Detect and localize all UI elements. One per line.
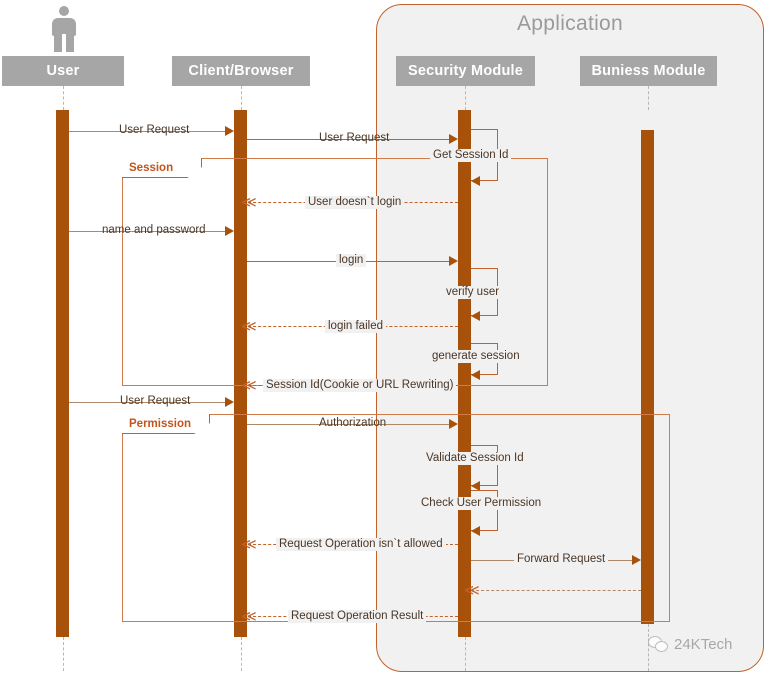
message-label-m6: login xyxy=(336,254,366,267)
message-label-m18: Request Operation Result xyxy=(288,610,426,623)
message-line-m17 xyxy=(471,590,641,591)
lifeline-stem-user xyxy=(63,86,64,110)
lifeline-head-user[interactable]: User xyxy=(2,56,124,86)
message-label-m16: Forward Request xyxy=(514,553,608,566)
message-arrowhead-m7 xyxy=(471,311,480,321)
message-arrowhead-m10: ≪ xyxy=(241,378,257,393)
message-arrowhead-m8: ≪ xyxy=(241,319,257,334)
message-arrowhead-m5 xyxy=(225,226,234,236)
message-label-m1: User Request xyxy=(116,124,192,137)
fragment-permission-label: Permission xyxy=(122,414,210,434)
lifeline-stem-business xyxy=(648,86,649,110)
lifeline-head-client[interactable]: Client/Browser xyxy=(172,56,310,86)
message-label-m5: name and password xyxy=(99,224,209,237)
message-label-m3: Get Session Id xyxy=(430,149,511,162)
wechat-icon xyxy=(648,636,668,653)
message-label-m8: login failed xyxy=(325,320,386,333)
sequence-diagram-canvas: Application User Client/Browser Security… xyxy=(0,0,776,679)
lifeline-stem-security xyxy=(465,86,466,110)
message-arrowhead-m17: ≪ xyxy=(464,583,480,598)
message-label-m10: Session Id(Cookie or URL Rewriting) xyxy=(263,379,456,392)
message-label-m13: Validate Session Id xyxy=(423,452,527,465)
message-arrowhead-m4: ≪ xyxy=(241,195,257,210)
lifeline-head-security[interactable]: Security Module xyxy=(396,56,535,86)
lifeline-head-business[interactable]: Buniess Module xyxy=(580,56,717,86)
message-arrowhead-m16 xyxy=(632,555,641,565)
message-label-m9: generate session xyxy=(429,350,523,363)
message-arrowhead-m14 xyxy=(471,526,480,536)
message-label-m12: Authorization xyxy=(316,417,389,430)
message-arrowhead-m1 xyxy=(225,126,234,136)
lifeline-stem-client-bottom xyxy=(241,637,242,671)
message-label-m15: Request Operation isn`t allowed xyxy=(276,538,446,551)
lifeline-stem-security-bottom xyxy=(465,637,466,671)
application-frame-title: Application xyxy=(376,12,764,36)
fragment-session-label: Session xyxy=(122,158,202,178)
message-label-m4: User doesn`t login xyxy=(305,196,404,209)
activation-bar-user xyxy=(56,110,69,637)
message-arrowhead-m9 xyxy=(471,370,480,380)
message-label-m7: verify user xyxy=(443,286,502,299)
message-label-m2: User Request xyxy=(316,132,392,145)
lifeline-stem-client xyxy=(241,86,242,110)
message-arrowhead-m15: ≪ xyxy=(241,537,257,552)
user-actor-icon xyxy=(50,6,78,52)
watermark-label: 24KTech xyxy=(674,636,732,653)
message-arrowhead-m12 xyxy=(449,419,458,429)
message-arrowhead-m2 xyxy=(449,134,458,144)
message-arrowhead-m18: ≪ xyxy=(241,609,257,624)
watermark: 24KTech xyxy=(648,636,732,653)
message-arrowhead-m3 xyxy=(471,176,480,186)
message-arrowhead-m11 xyxy=(225,397,234,407)
message-arrowhead-m6 xyxy=(449,256,458,266)
message-label-m11: User Request xyxy=(117,395,193,408)
message-label-m14: Check User Permission xyxy=(418,497,544,510)
lifeline-stem-user-bottom xyxy=(63,637,64,671)
